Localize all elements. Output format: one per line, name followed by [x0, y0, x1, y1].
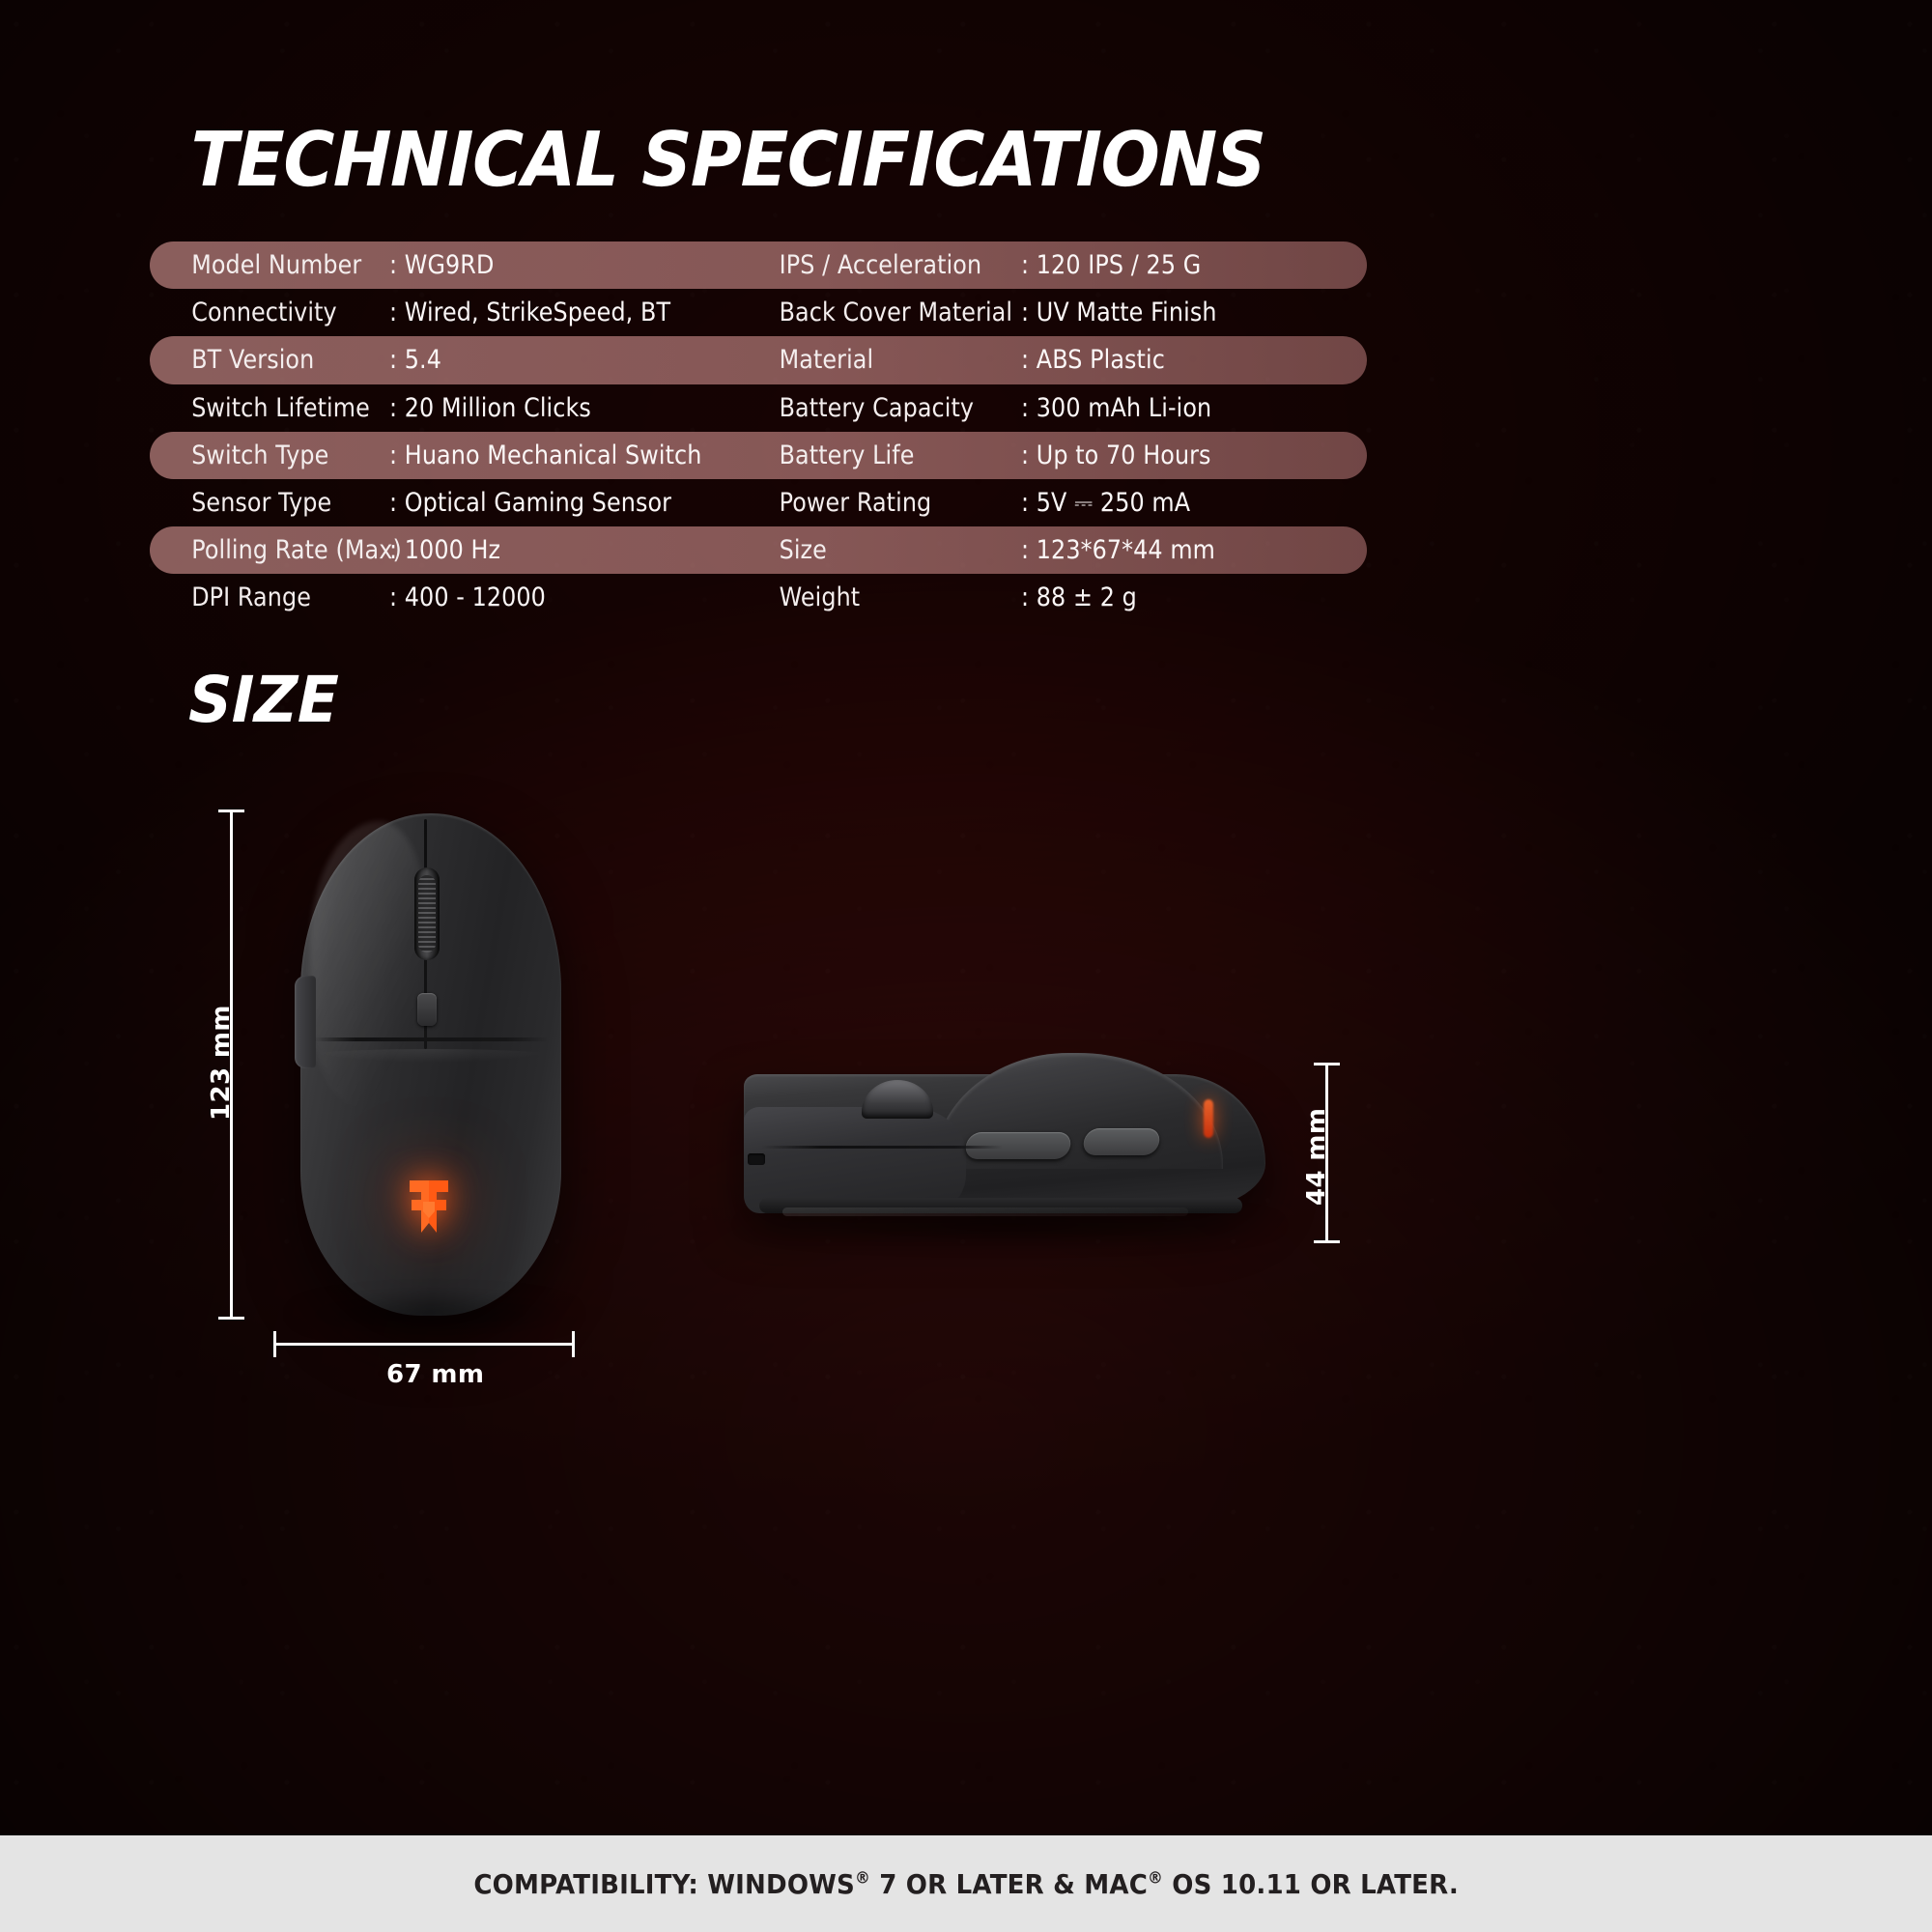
spec-value: : 1000 Hz: [389, 535, 500, 565]
height-dim-cap-bottom: [218, 1317, 244, 1320]
spec-left-pair: Switch Lifetime: 20 Million Clicks: [150, 393, 758, 423]
height-dim-label: 123 mm: [207, 1005, 236, 1121]
mouse-top-shadow: [290, 1294, 580, 1333]
spec-left-pair: Sensor Type: Optical Gaming Sensor: [150, 488, 758, 519]
spec-right-pair: Size: 123*67*44 mm: [758, 535, 1367, 565]
spec-value: : 20 Million Clicks: [389, 393, 591, 423]
depth-dim-label: 44 mm: [1302, 1108, 1331, 1206]
spec-value: : 88 ± 2 g: [1021, 582, 1137, 612]
spec-left-pair: BT Version: 5.4: [150, 345, 758, 375]
spec-label: Battery Life: [758, 440, 995, 470]
width-dim-line: [273, 1343, 575, 1346]
depth-dim-cap-top: [1314, 1063, 1340, 1065]
mouse-top-seam-shade: [308, 1049, 554, 1063]
spec-row: Switch Lifetime: 20 Million ClicksBatter…: [150, 384, 1367, 432]
spec-label: Switch Lifetime: [150, 393, 365, 423]
spec-label: Size: [758, 535, 995, 565]
spec-sheet-page: TECHNICAL SPECIFICATIONS Model Number: W…: [0, 0, 1932, 1932]
spec-label: Power Rating: [758, 488, 995, 519]
spec-label: Polling Rate (Max): [150, 535, 365, 565]
reg-mark-mac: ®: [1148, 1868, 1163, 1888]
spec-row-cells: DPI Range: 400 - 12000Weight: 88 ± 2 g: [150, 582, 1367, 612]
compatibility-text: COMPATIBILITY: WINDOWS® 7 OR LATER & MAC…: [473, 1868, 1459, 1900]
spec-label: Battery Capacity: [758, 393, 995, 423]
spec-value: : 123*67*44 mm: [1021, 535, 1215, 565]
spec-right-pair: Power Rating: 5V ⎓ 250 mA: [758, 488, 1367, 519]
width-dim-label: 67 mm: [386, 1360, 484, 1389]
spec-value: : Up to 70 Hours: [1021, 440, 1211, 470]
usb-port-icon: [748, 1153, 765, 1165]
spec-label: Material: [758, 345, 995, 375]
spec-value: : WG9RD: [389, 250, 494, 280]
size-diagram: 123 mm 67 mm 44 mm: [0, 792, 1932, 1816]
spec-right-pair: Battery Life: Up to 70 Hours: [758, 440, 1367, 470]
mouse-side-view: [744, 1053, 1265, 1236]
spec-label: Sensor Type: [150, 488, 365, 519]
spec-label: Switch Type: [150, 440, 365, 470]
spec-row: Connectivity: Wired, StrikeSpeed, BTBack…: [150, 289, 1367, 336]
spec-row: DPI Range: 400 - 12000Weight: 88 ± 2 g: [150, 574, 1367, 621]
spec-value: : 120 IPS / 25 G: [1021, 250, 1201, 280]
spec-row-cells: Connectivity: Wired, StrikeSpeed, BTBack…: [150, 298, 1367, 327]
specifications-table: Model Number: WG9RDIPS / Acceleration: 1…: [150, 241, 1367, 622]
spec-value: : 5.4: [389, 345, 441, 375]
spec-value: : 5V ⎓ 250 mA: [1021, 488, 1190, 519]
spec-row: Sensor Type: Optical Gaming SensorPower …: [150, 479, 1367, 526]
spec-label: DPI Range: [150, 582, 365, 612]
spec-value: : 300 mAh Li-ion: [1021, 393, 1211, 423]
spec-value: : 400 - 12000: [389, 582, 546, 612]
spec-row: BT Version: 5.4Material: ABS Plastic: [150, 336, 1367, 384]
spec-left-pair: Model Number: WG9RD: [150, 250, 758, 280]
spec-row: Model Number: WG9RDIPS / Acceleration: 1…: [150, 241, 1367, 289]
spec-right-pair: Battery Capacity: 300 mAh Li-ion: [758, 393, 1367, 423]
mouse-top-seam: [314, 1037, 548, 1041]
height-dim-cap-top: [218, 810, 244, 812]
spec-right-pair: IPS / Acceleration: 120 IPS / 25 G: [758, 250, 1367, 280]
spec-row: Switch Type: Huano Mechanical SwitchBatt…: [150, 432, 1367, 479]
scroll-wheel-icon: [414, 867, 440, 960]
dpi-button: [417, 993, 437, 1026]
depth-dim-cap-bottom: [1314, 1240, 1340, 1243]
spec-label: IPS / Acceleration: [758, 250, 995, 280]
mouse-side-seam: [761, 1146, 1003, 1149]
footer-bar: COMPATIBILITY: WINDOWS® 7 OR LATER & MAC…: [0, 1835, 1932, 1932]
spec-row-cells: Model Number: WG9RDIPS / Acceleration: 1…: [150, 250, 1367, 280]
spec-right-pair: Material: ABS Plastic: [758, 345, 1367, 375]
fantech-logo: [394, 1179, 464, 1235]
spec-left-pair: Switch Type: Huano Mechanical Switch: [150, 440, 758, 470]
spec-row-cells: Sensor Type: Optical Gaming SensorPower …: [150, 488, 1367, 519]
mouse-side-foot: [782, 1207, 1188, 1216]
spec-value: : Optical Gaming Sensor: [389, 488, 671, 519]
spec-row-cells: BT Version: 5.4Material: ABS Plastic: [150, 345, 1367, 375]
page-title: TECHNICAL SPECIFICATIONS: [190, 117, 1266, 204]
side-button-back: [1082, 1128, 1161, 1155]
spec-left-pair: DPI Range: 400 - 12000: [150, 582, 758, 612]
spec-left-pair: Polling Rate (Max): 1000 Hz: [150, 535, 758, 565]
spec-value: : ABS Plastic: [1021, 345, 1165, 375]
mouse-top-highlight: [310, 821, 426, 1111]
spec-right-pair: Weight: 88 ± 2 g: [758, 582, 1367, 612]
spec-label: Connectivity: [150, 298, 365, 327]
spec-value: : Huano Mechanical Switch: [389, 440, 701, 470]
spec-label: BT Version: [150, 345, 365, 375]
spec-row-cells: Polling Rate (Max): 1000 HzSize: 123*67*…: [150, 535, 1367, 565]
spec-right-pair: Back Cover Material: UV Matte Finish: [758, 298, 1367, 327]
compat-suffix: OS 10.11 OR LATER.: [1163, 1868, 1459, 1900]
spec-value: : Wired, StrikeSpeed, BT: [389, 298, 670, 327]
spec-label: Back Cover Material: [758, 298, 995, 327]
spec-label: Model Number: [150, 250, 365, 280]
spec-row: Polling Rate (Max): 1000 HzSize: 123*67*…: [150, 526, 1367, 574]
spec-left-pair: Connectivity: Wired, StrikeSpeed, BT: [150, 298, 758, 327]
spec-value: : UV Matte Finish: [1021, 298, 1217, 327]
compat-prefix: COMPATIBILITY: WINDOWS: [473, 1868, 855, 1900]
size-section-title: SIZE: [188, 663, 339, 737]
spec-label: Weight: [758, 582, 995, 612]
width-dim-cap-left: [273, 1331, 276, 1357]
spec-row-cells: Switch Type: Huano Mechanical SwitchBatt…: [150, 440, 1367, 470]
led-strip: [1204, 1099, 1213, 1138]
mouse-top-view: [300, 813, 561, 1316]
reg-mark-windows: ®: [855, 1868, 870, 1888]
spec-row-cells: Switch Lifetime: 20 Million ClicksBatter…: [150, 393, 1367, 423]
compat-mid: 7 OR LATER & MAC: [870, 1868, 1148, 1900]
width-dim-cap-right: [572, 1331, 575, 1357]
